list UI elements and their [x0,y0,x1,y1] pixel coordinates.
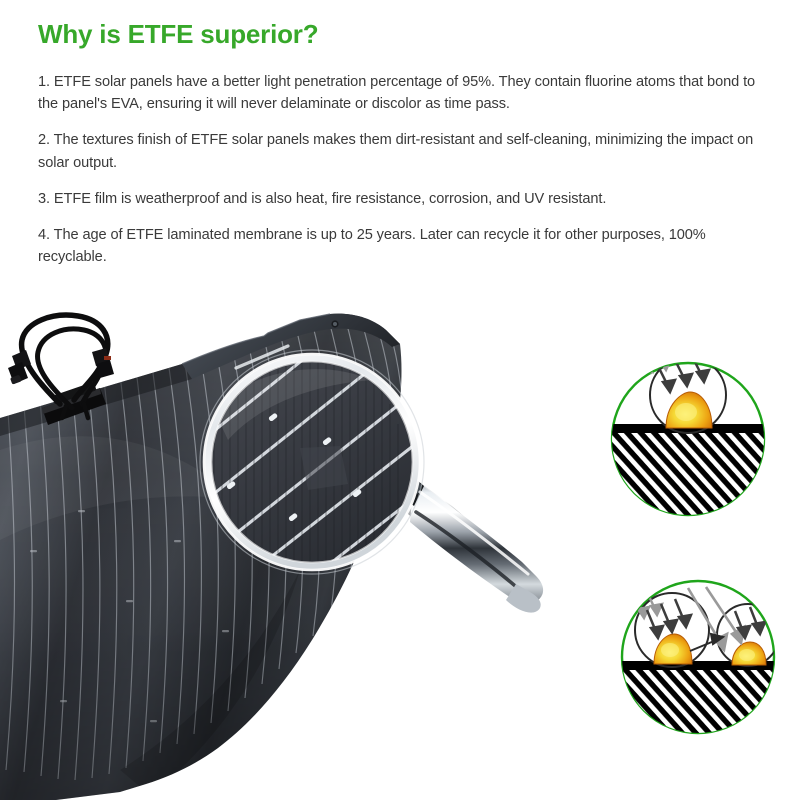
self-cleaning-diagram [610,581,786,760]
paragraph-4: 4. The age of ETFE laminated membrane is… [38,224,768,268]
paragraph-3: 3. ETFE film is weatherproof and is also… [38,188,768,210]
solar-panel-photo [0,300,543,800]
page-title: Why is ETFE superior? [38,20,768,49]
light-penetration-diagram [600,342,776,530]
paragraph-2: 2. The textures finish of ETFE solar pan… [38,129,768,173]
illustration-stage [0,300,800,800]
page-root: Why is ETFE superior? 1. ETFE solar pane… [0,0,800,800]
content-copy: Why is ETFE superior? 1. ETFE solar pane… [38,20,768,268]
paragraph-1: 1. ETFE solar panels have a better light… [38,71,768,115]
